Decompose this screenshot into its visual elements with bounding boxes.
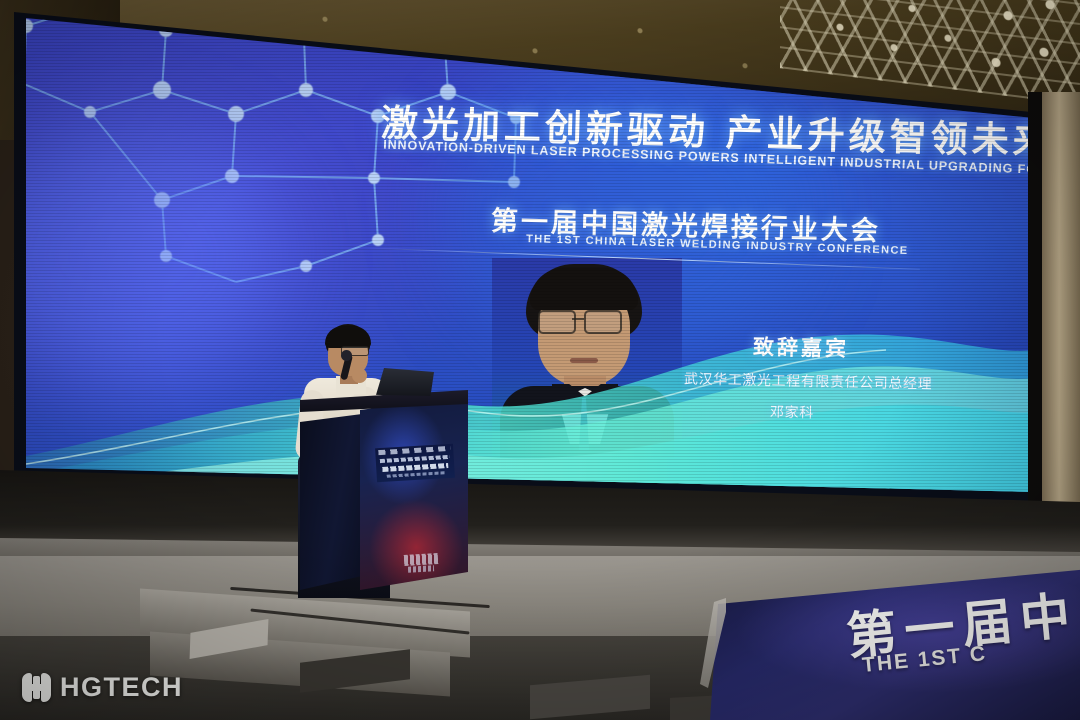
- podium-sponsor-logos: [378, 446, 450, 455]
- microphone-head-icon: [341, 350, 352, 361]
- laptop-on-podium: [376, 368, 434, 396]
- speaker-company: 武汉华工激光工程有限责任公司总经理: [684, 368, 933, 393]
- right-wall: [1028, 92, 1080, 562]
- screenshot-root: 激光加工创新驱动 产业升级智领未来 INNOVATION-DRIVEN LASE…: [0, 0, 1080, 720]
- watermark-brand-text: HGTECH: [60, 672, 183, 703]
- watermark-logo: HGTECH: [22, 672, 183, 703]
- speaker-name: 邓家科: [770, 402, 814, 423]
- speaker-role-label: 致辞嘉宾: [753, 331, 850, 363]
- podium-mini-banner: [375, 444, 455, 483]
- hgtech-logo-icon: [22, 673, 51, 702]
- speaker-portrait-photo: [492, 258, 682, 458]
- podium: [300, 390, 468, 590]
- podium-logo-mark: [404, 553, 439, 566]
